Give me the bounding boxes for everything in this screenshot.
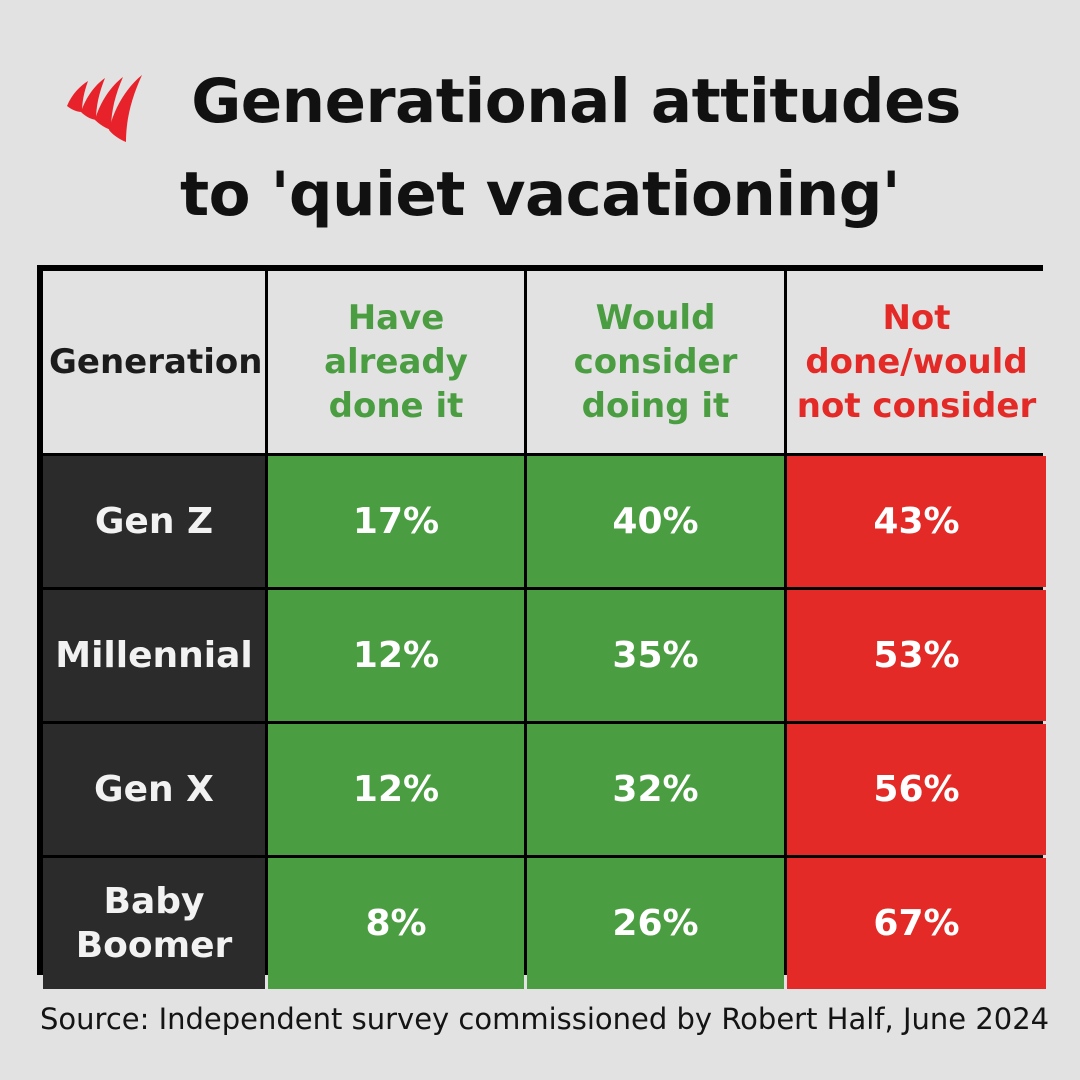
sbs-logo-icon xyxy=(62,72,154,144)
infographic-page: Generational attitudes to 'quiet vacatio… xyxy=(0,0,1080,1080)
cell-already-done: 17% xyxy=(268,456,524,587)
page-title-line-2: to 'quiet vacationing' xyxy=(0,149,1080,242)
column-header-would-consider: Would consider doing it xyxy=(527,271,784,453)
cell-generation: Baby Boomer xyxy=(43,858,265,989)
generational-attitudes-table: Generation Have already done it Would co… xyxy=(40,268,1049,992)
cell-already-done: 12% xyxy=(268,724,524,855)
cell-would-consider: 35% xyxy=(527,590,784,721)
data-table-container: Generation Have already done it Would co… xyxy=(37,265,1043,975)
table-header-row: Generation Have already done it Would co… xyxy=(43,271,1046,453)
column-header-not-consider: Not done/would not consider xyxy=(787,271,1046,453)
cell-generation: Gen Z xyxy=(43,456,265,587)
cell-already-done: 12% xyxy=(268,590,524,721)
page-title-line-1: Generational attitudes xyxy=(0,56,1080,149)
cell-not-consider: 56% xyxy=(787,724,1046,855)
table-row: Gen X 12% 32% 56% xyxy=(43,724,1046,855)
cell-already-done: 8% xyxy=(268,858,524,989)
column-header-generation: Generation xyxy=(43,271,265,453)
cell-not-consider: 43% xyxy=(787,456,1046,587)
cell-would-consider: 26% xyxy=(527,858,784,989)
source-caption: Source: Independent survey commissioned … xyxy=(40,1002,1049,1036)
table-row: Gen Z 17% 40% 43% xyxy=(43,456,1046,587)
cell-not-consider: 53% xyxy=(787,590,1046,721)
cell-generation: Millennial xyxy=(43,590,265,721)
cell-not-consider: 67% xyxy=(787,858,1046,989)
cell-would-consider: 40% xyxy=(527,456,784,587)
title-block: Generational attitudes to 'quiet vacatio… xyxy=(0,56,1080,241)
cell-generation: Gen X xyxy=(43,724,265,855)
table-row: Baby Boomer 8% 26% 67% xyxy=(43,858,1046,989)
cell-would-consider: 32% xyxy=(527,724,784,855)
column-header-already-done: Have already done it xyxy=(268,271,524,453)
table-row: Millennial 12% 35% 53% xyxy=(43,590,1046,721)
